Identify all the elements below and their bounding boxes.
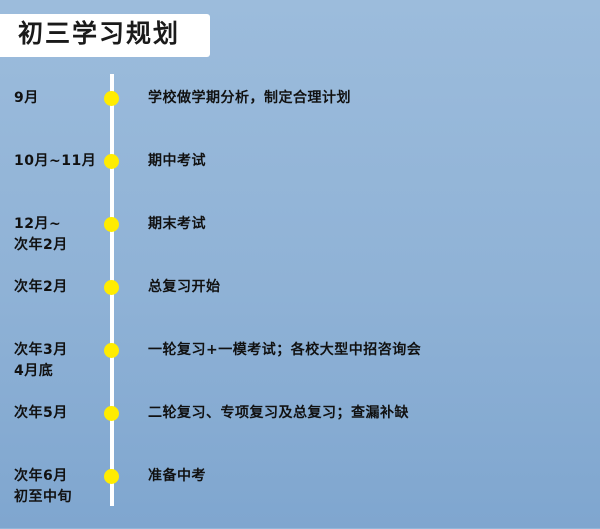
timeline-row: 9月 学校做学期分析，制定合理计划 [0, 88, 600, 151]
timeline-row-description: 二轮复习、专项复习及总复习；查漏补缺 [148, 403, 592, 424]
timeline-row-label: 次年5月 [14, 403, 106, 424]
timeline-dot-icon [104, 469, 119, 484]
timeline-row-description: 期中考试 [148, 151, 592, 172]
timeline-dot-icon [104, 406, 119, 421]
timeline-row-label: 12月~ 次年2月 [14, 214, 106, 256]
timeline-row: 10月~11月 期中考试 [0, 151, 600, 214]
timeline-row-label: 次年6月 初至中旬 [14, 466, 106, 508]
timeline-row: 12月~ 次年2月 期末考试 [0, 214, 600, 277]
page-title: 初三学习规划 [18, 20, 180, 49]
timeline-dot-icon [104, 91, 119, 106]
timeline-row: 次年3月 4月底 一轮复习+一模考试；各校大型中招咨询会 [0, 340, 600, 403]
timeline-row: 次年6月 初至中旬 准备中考 [0, 466, 600, 529]
timeline-row-label: 10月~11月 [14, 151, 106, 172]
timeline-row-description: 准备中考 [148, 466, 592, 487]
timeline-rows: 9月 学校做学期分析，制定合理计划 10月~11月 期中考试 12月~ 次年2月… [0, 88, 600, 529]
timeline-row-description: 期末考试 [148, 214, 592, 235]
timeline-row-label: 9月 [14, 88, 106, 109]
infographic-page: 初三学习规划 9月 学校做学期分析，制定合理计划 10月~11月 期中考试 12… [0, 0, 600, 528]
timeline-dot-icon [104, 154, 119, 169]
timeline-row-description: 一轮复习+一模考试；各校大型中招咨询会 [148, 340, 592, 361]
timeline-row-label: 次年3月 4月底 [14, 340, 106, 382]
timeline-row: 次年2月 总复习开始 [0, 277, 600, 340]
timeline-dot-icon [104, 343, 119, 358]
timeline-row-description: 学校做学期分析，制定合理计划 [148, 88, 592, 109]
timeline-row-label: 次年2月 [14, 277, 106, 298]
timeline-dot-icon [104, 280, 119, 295]
title-banner: 初三学习规划 [0, 14, 210, 57]
timeline-dot-icon [104, 217, 119, 232]
timeline-row: 次年5月 二轮复习、专项复习及总复习；查漏补缺 [0, 403, 600, 466]
timeline-row-description: 总复习开始 [148, 277, 592, 298]
